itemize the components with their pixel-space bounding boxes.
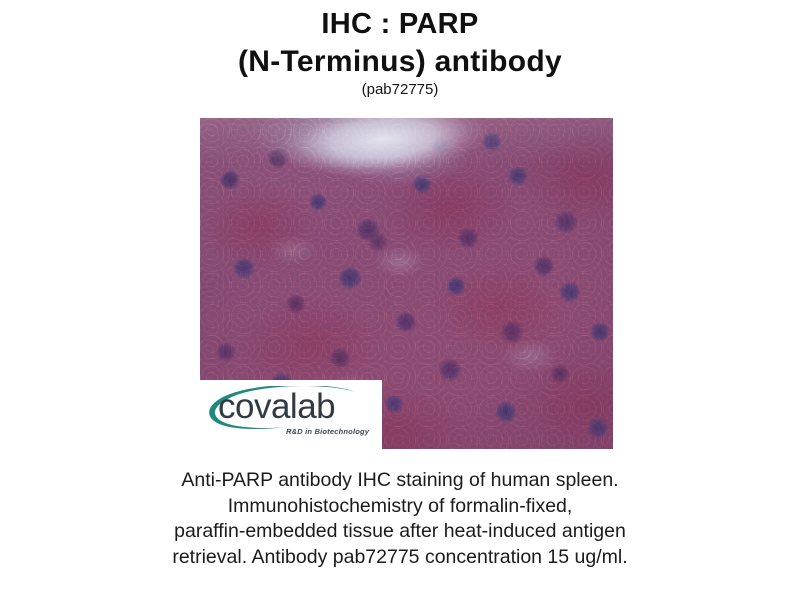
page-title-secondary: (N-Terminus) antibody — [0, 43, 800, 81]
page-title-primary: IHC : PARP — [0, 0, 800, 43]
catalog-code: (pab72775) — [0, 80, 800, 100]
caption-line: Anti-PARP antibody IHC staining of human… — [90, 468, 710, 494]
ihc-micrograph: covalab R&D in Biotechnology — [200, 118, 613, 449]
caption-line: Immunohistochemistry of formalin-fixed, — [90, 494, 710, 520]
caption-line: retrieval. Antibody pab72775 concentrati… — [90, 545, 710, 571]
page-title-block: IHC : PARP (N-Terminus) antibody (pab727… — [0, 0, 800, 100]
covalab-logo-plate: covalab R&D in Biotechnology — [200, 380, 382, 449]
figure-caption: Anti-PARP antibody IHC staining of human… — [90, 468, 710, 570]
caption-line: paraffin-embedded tissue after heat-indu… — [90, 519, 710, 545]
covalab-wordmark: covalab — [218, 388, 335, 426]
covalab-tagline: R&D in Biotechnology — [286, 427, 369, 437]
